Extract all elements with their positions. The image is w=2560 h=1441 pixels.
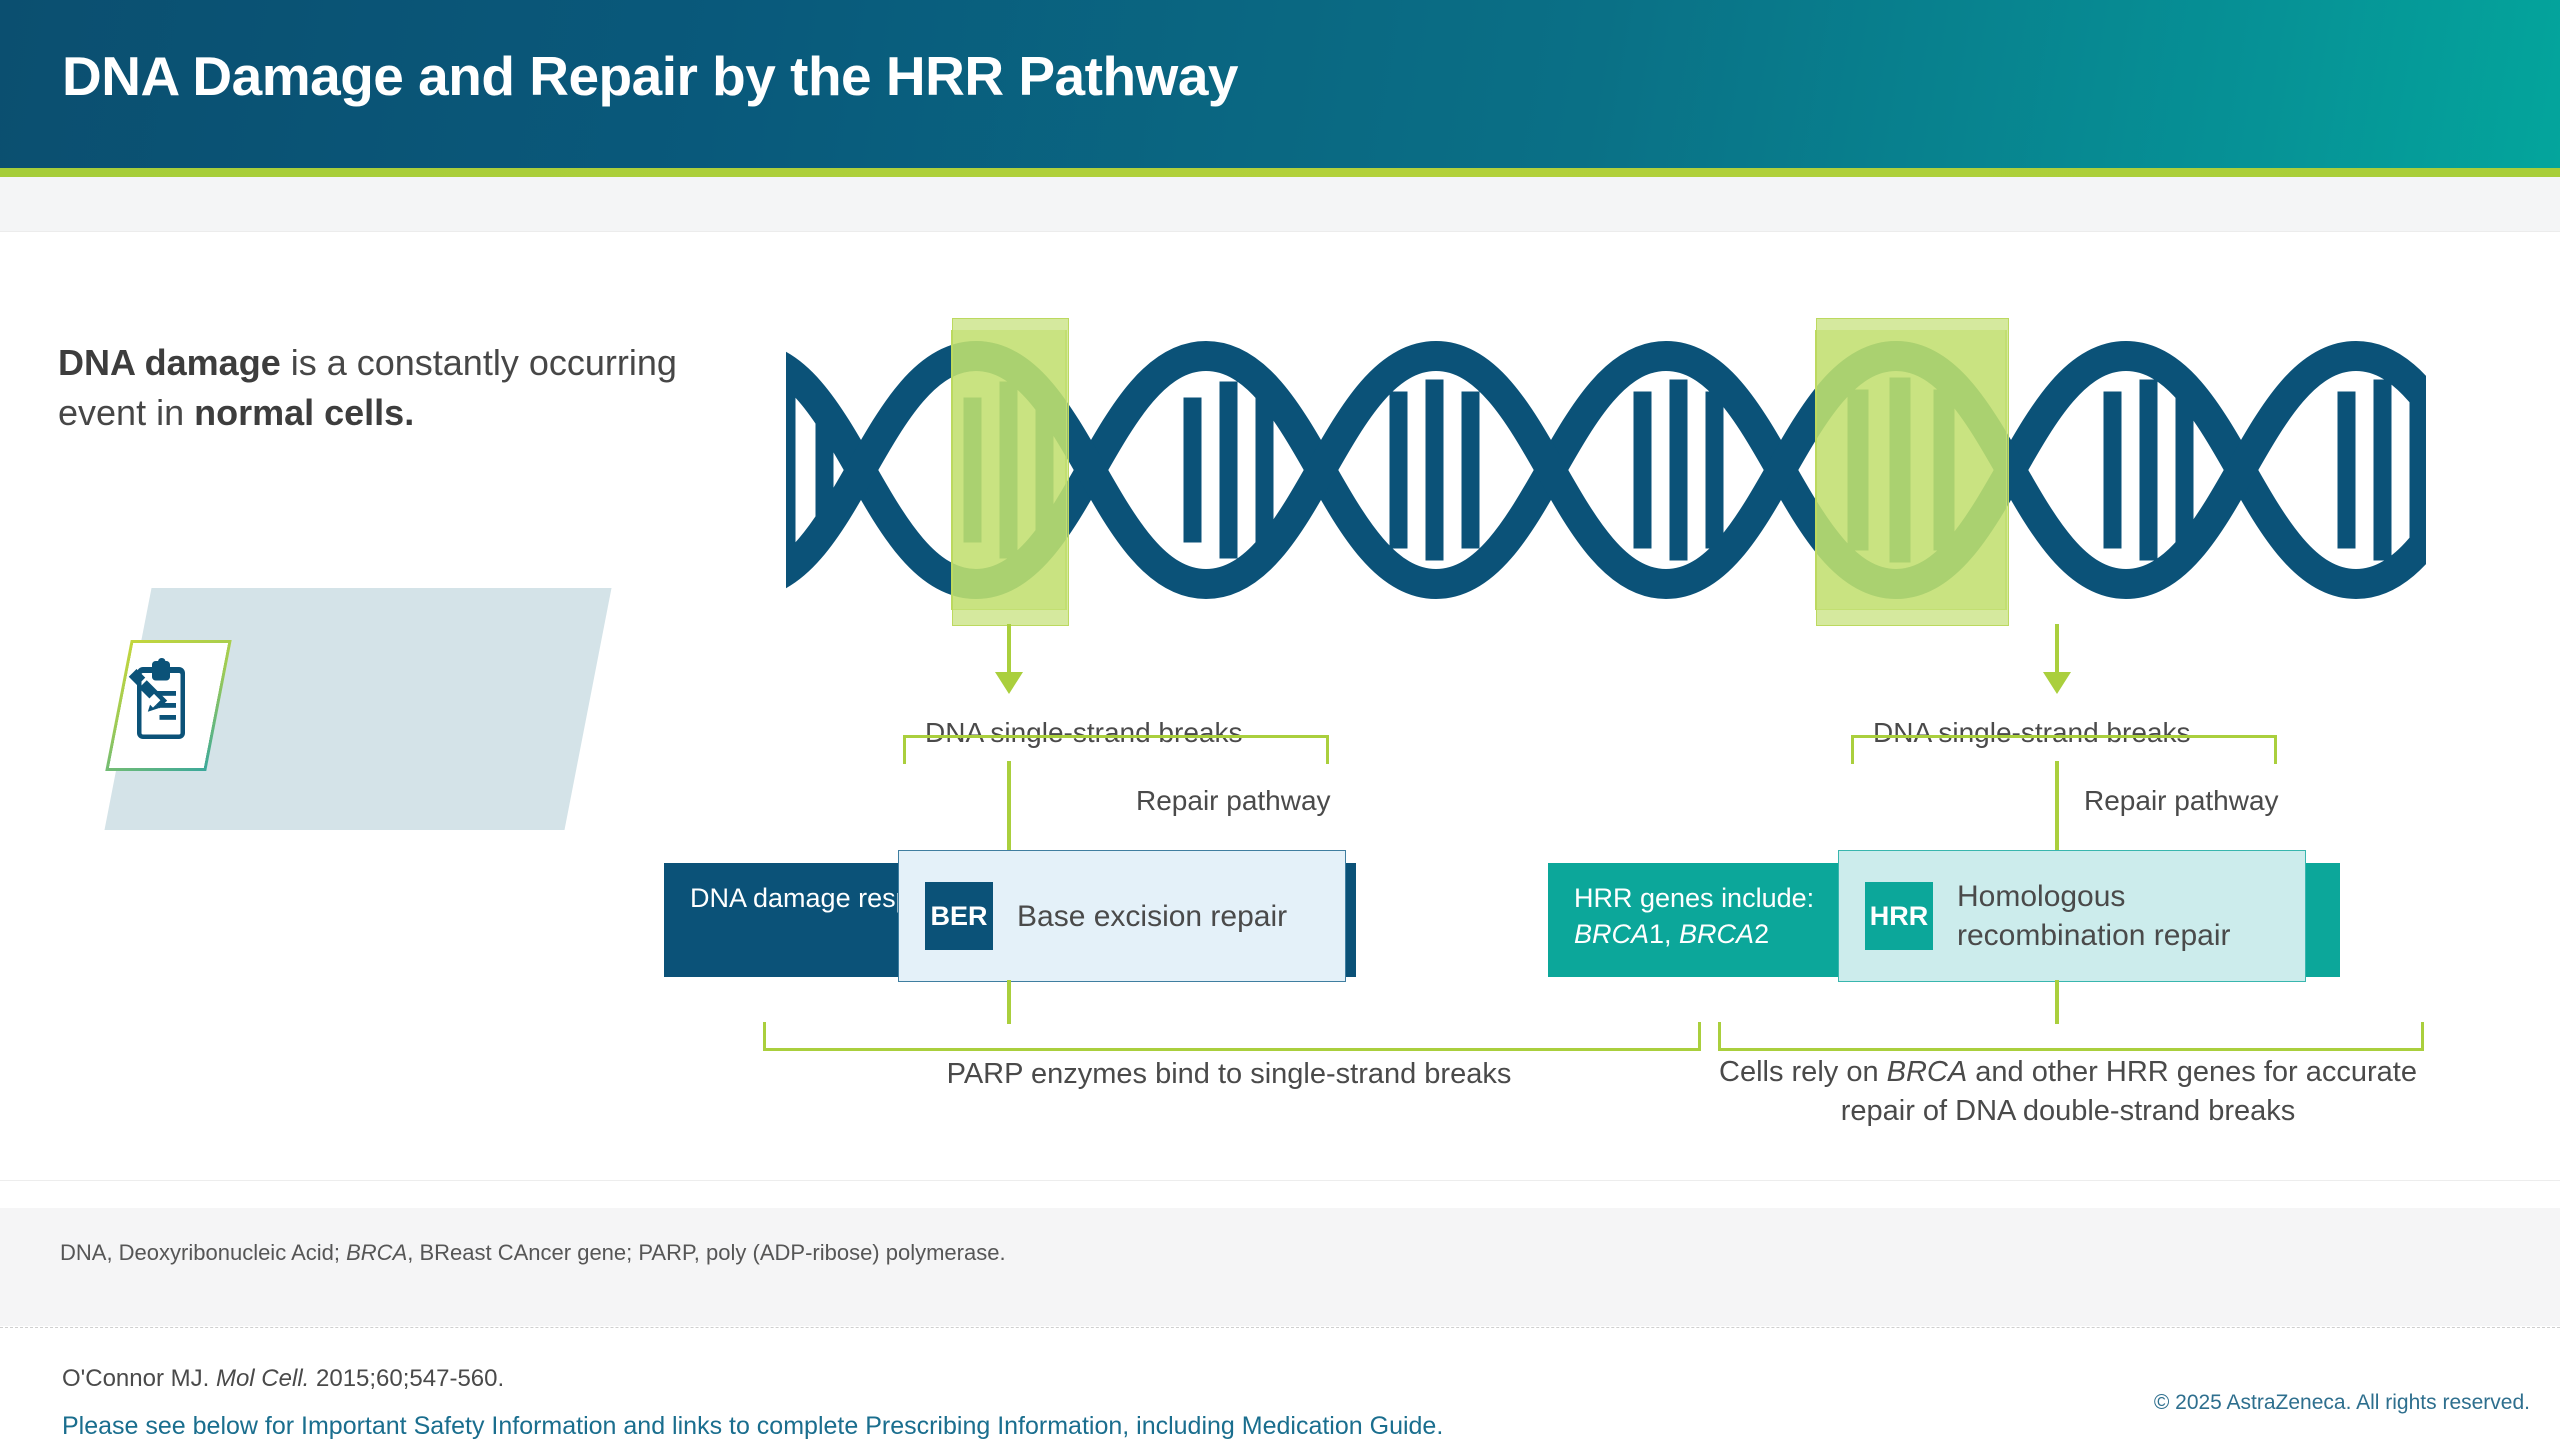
copyright-text: © 2025 AstraZeneca. All rights reserved.	[2154, 1391, 2530, 1415]
abbrev-brca-italic: BRCA	[346, 1240, 407, 1265]
right-response-brca1-italic: BRCA	[1574, 919, 1649, 949]
clipboard-pencil-icon	[113, 655, 209, 751]
subheader-bar	[0, 177, 2560, 231]
dna-highlight-band-right	[1816, 318, 2009, 626]
intro-paragraph: DNA damage is a constantly occurring eve…	[58, 338, 718, 437]
right-repair-label-line2: recombination repair	[1957, 916, 2230, 955]
abbrev-post: , BReast CAncer gene; PARP, poly (ADP-ri…	[407, 1240, 1005, 1265]
left-repair-label: Base excision repair	[993, 897, 1287, 936]
right-caption: Cells rely on BRCA and other HRR genes f…	[1688, 1053, 2448, 1131]
content-bottom-divider	[0, 1180, 2560, 1181]
left-repair-box: BER Base excision repair	[898, 850, 1346, 982]
right-caption-pre: Cells rely on	[1719, 1056, 1887, 1088]
ref-pre: O'Connor MJ.	[62, 1365, 216, 1392]
ref-journal-italic: Mol Cell.	[216, 1365, 309, 1392]
abbreviations-text: DNA, Deoxyribonucleic Acid; BRCA, BReast…	[60, 1240, 1006, 1266]
right-repair-label: Homologous recombination repair	[1933, 877, 2230, 955]
page-header: DNA Damage and Repair by the HRR Pathway	[0, 0, 2560, 168]
page-title: DNA Damage and Repair by the HRR Pathway	[62, 44, 1238, 108]
left-pathway-label: Repair pathway	[1136, 785, 1331, 817]
right-arrow-stem	[2055, 624, 2059, 674]
right-pathway-stem	[2055, 761, 2059, 861]
left-break-bracket	[903, 735, 1329, 764]
reference-citation: O'Connor MJ. Mol Cell. 2015;60;547-560.	[62, 1365, 504, 1393]
left-arrow-head	[995, 672, 1023, 694]
left-repair-badge: BER	[925, 882, 993, 950]
abbrev-pre: DNA, Deoxyribonucleic Acid;	[60, 1240, 346, 1265]
right-repair-box: HRR Homologous recombination repair	[1838, 850, 2306, 982]
header-accent-line	[0, 168, 2560, 177]
left-caption: PARP enzymes bind to single-strand break…	[723, 1055, 1735, 1094]
footer-dashed-divider	[0, 1327, 2560, 1328]
right-caption-bracket	[1718, 1022, 2424, 1051]
intro-bold-normal-cells: normal cells.	[194, 392, 414, 433]
right-response-brca2-italic: BRCA	[1679, 919, 1754, 949]
ref-post: 2015;60;547-560.	[309, 1365, 504, 1392]
right-caption-stem	[2055, 980, 2059, 1024]
intro-bold-dna-damage: DNA damage	[58, 342, 281, 383]
isi-prescribing-info-link[interactable]: Please see below for Important Safety In…	[62, 1412, 1443, 1441]
right-repair-badge: HRR	[1865, 882, 1933, 950]
left-arrow-stem	[1007, 624, 1011, 674]
hrr-callout: The HRR pathway repairs double-strand br…	[58, 580, 658, 870]
right-pathway-label: Repair pathway	[2084, 785, 2279, 817]
abbreviations-band	[0, 1208, 2560, 1326]
left-caption-stem	[1007, 980, 1011, 1024]
right-repair-label-line1: Homologous	[1957, 877, 2230, 916]
right-response-brca1-num: 1,	[1649, 919, 1679, 949]
left-caption-bracket	[763, 1022, 1701, 1051]
right-break-bracket	[1851, 735, 2277, 764]
left-pathway-stem	[1007, 761, 1011, 861]
subheader-divider	[0, 231, 2560, 232]
right-arrow-head	[2043, 672, 2071, 694]
right-caption-brca-italic: BRCA	[1887, 1056, 1968, 1088]
dna-highlight-band-left	[952, 318, 1069, 626]
right-response-brca2-num: 2	[1754, 919, 1769, 949]
